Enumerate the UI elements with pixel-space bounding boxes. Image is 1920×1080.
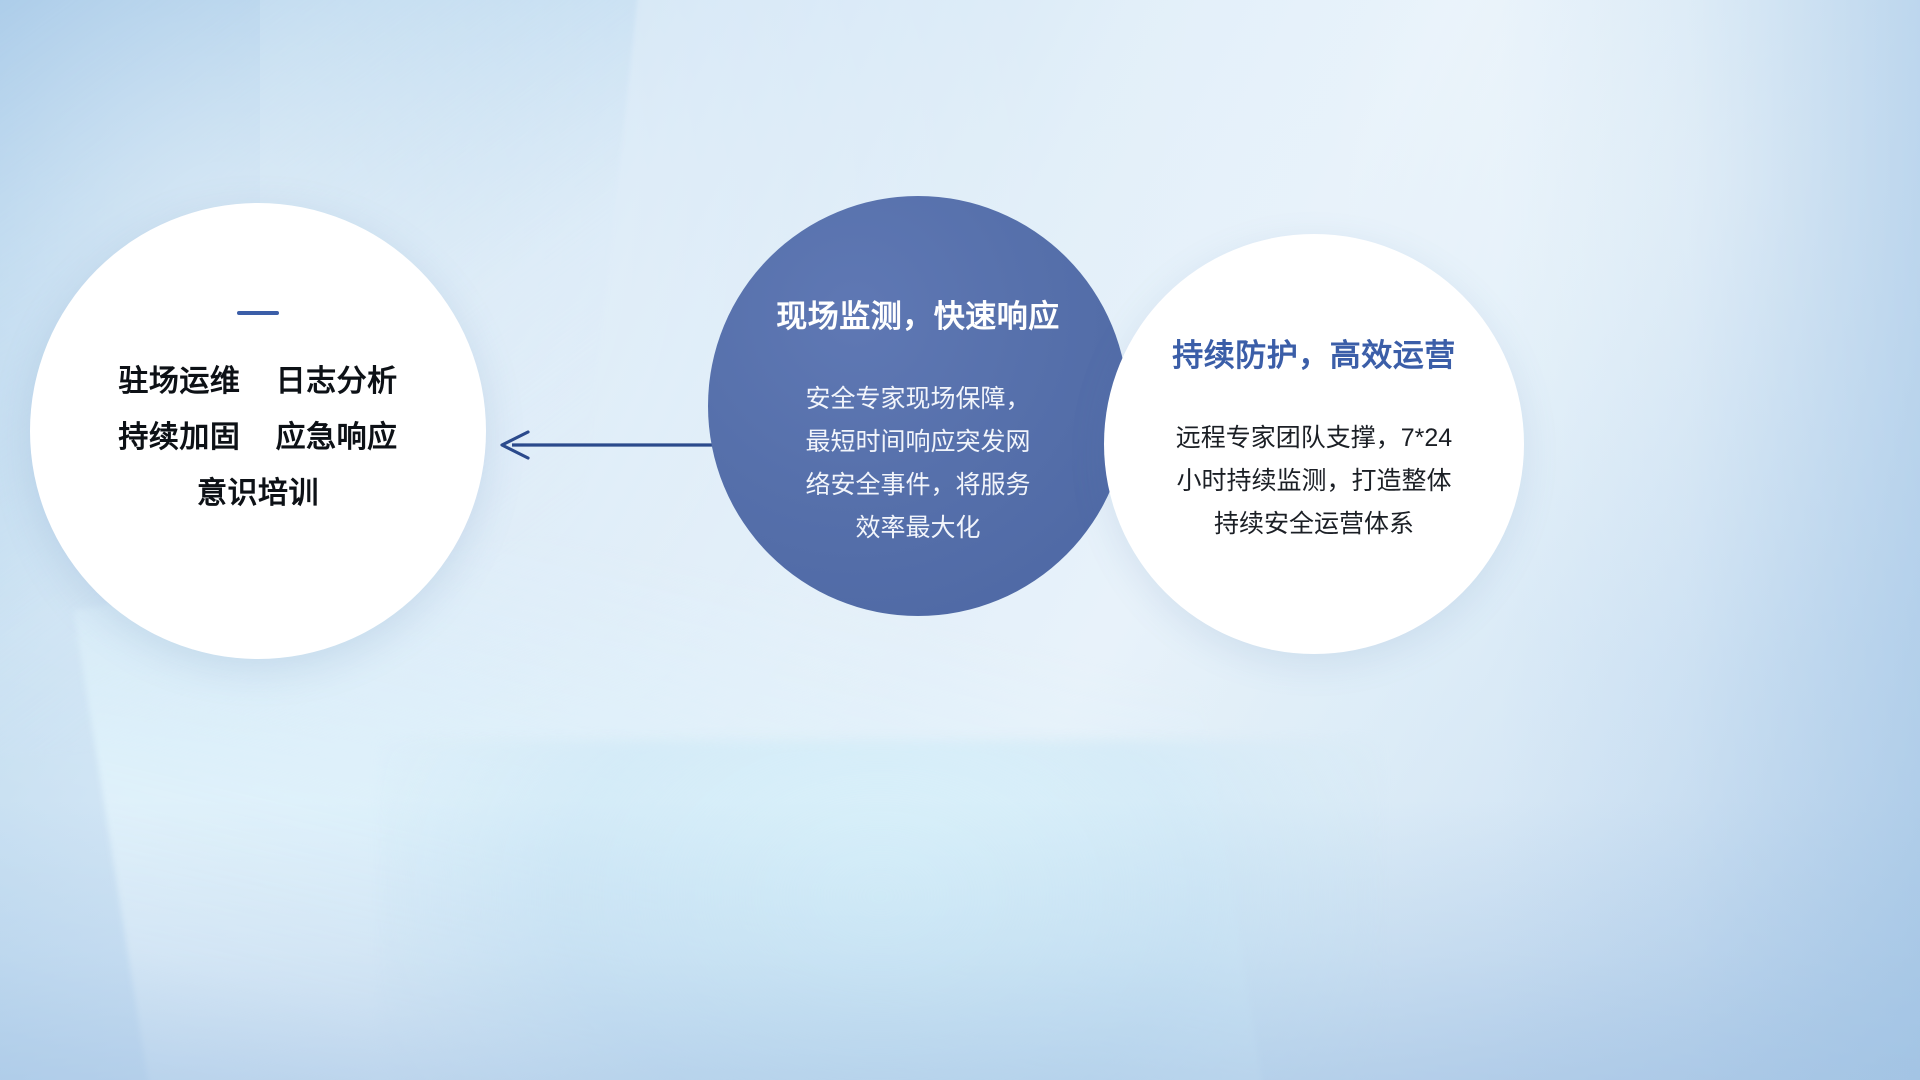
node-heading: 持续防护，高效运营 bbox=[1172, 330, 1456, 375]
list-item: 意识培训 bbox=[118, 466, 397, 522]
divider-dash bbox=[237, 311, 279, 315]
node-continuous-protection[interactable]: 持续防护，高效运营 远程专家团队支撑，7*24 小时持续监测，打造整体 持续安全… bbox=[1104, 234, 1524, 654]
node-body: 远程专家团队支撑，7*24 小时持续监测，打造整体 持续安全运营体系 bbox=[1140, 417, 1488, 546]
list-item: 持续加固 应急响应 bbox=[118, 410, 397, 466]
list-item: 驻场运维 日志分析 bbox=[118, 354, 397, 410]
body-line: 安全专家现场保障， bbox=[768, 378, 1068, 421]
body-line: 最短时间响应突发网 bbox=[768, 421, 1068, 464]
background-right-shade bbox=[1500, 0, 1920, 1080]
body-line: 持续安全运营体系 bbox=[1140, 503, 1488, 546]
node-heading: 现场监测，快速响应 bbox=[776, 291, 1060, 336]
body-line: 效率最大化 bbox=[768, 507, 1068, 550]
node-capabilities[interactable]: 驻场运维 日志分析 持续加固 应急响应 意识培训 bbox=[30, 203, 486, 659]
body-line: 小时持续监测，打造整体 bbox=[1140, 460, 1488, 503]
body-line: 络安全事件，将服务 bbox=[768, 464, 1068, 507]
slide-canvas: 驻场运维 日志分析 持续加固 应急响应 意识培训 现场监测，快速响应 安全专家现… bbox=[0, 0, 1920, 1080]
node-onsite-monitoring[interactable]: 现场监测，快速响应 安全专家现场保障， 最短时间响应突发网 络安全事件，将服务 … bbox=[708, 196, 1128, 616]
node-body: 安全专家现场保障， 最短时间响应突发网 络安全事件，将服务 效率最大化 bbox=[768, 378, 1068, 550]
body-line: 远程专家团队支撑，7*24 bbox=[1140, 417, 1488, 460]
capabilities-list: 驻场运维 日志分析 持续加固 应急响应 意识培训 bbox=[118, 354, 397, 522]
